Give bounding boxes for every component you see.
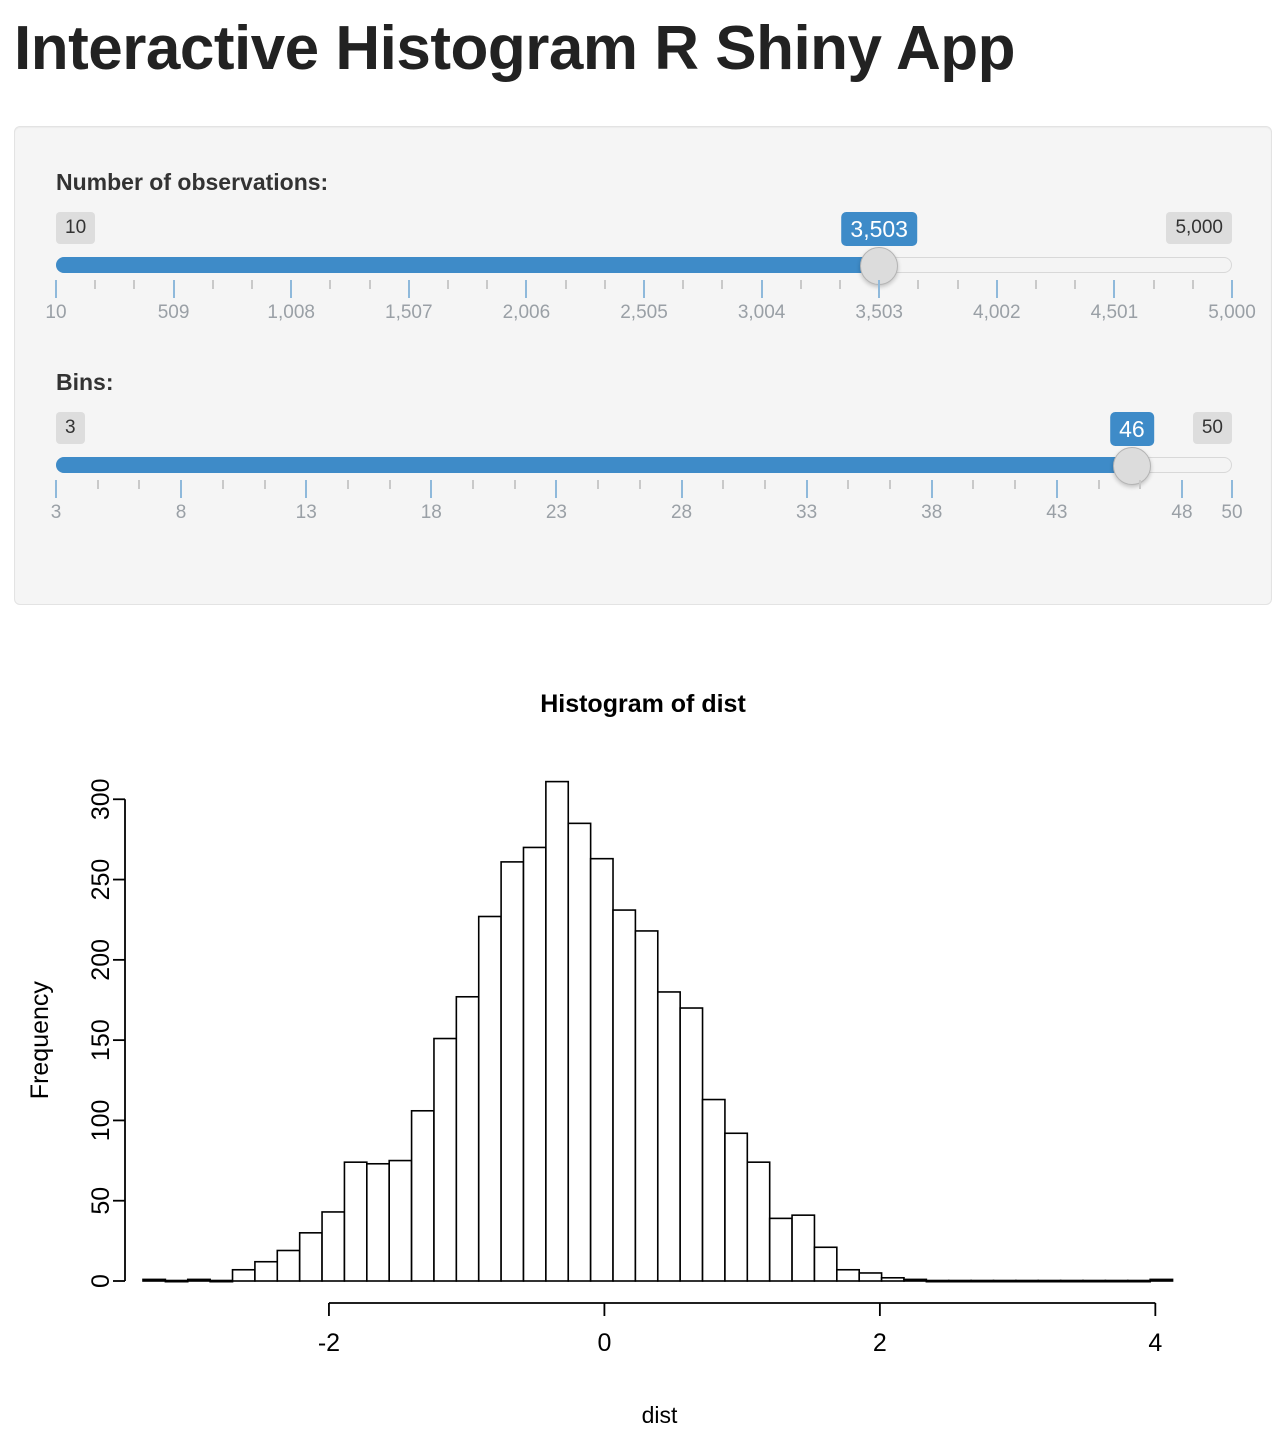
tick-minor: [251, 280, 253, 289]
tick-minor: [1192, 280, 1194, 289]
histogram-bar: [434, 1039, 456, 1281]
histogram-bar: [949, 1281, 971, 1282]
y-tick-label: 300: [87, 778, 115, 820]
tick-minor: [1014, 480, 1016, 489]
histogram-bar: [859, 1273, 881, 1281]
histogram-bar: [412, 1111, 434, 1281]
tick-minor: [839, 280, 841, 289]
x-tick-label: 2: [873, 1329, 887, 1357]
histogram-bar: [635, 931, 657, 1281]
y-tick-label: 50: [87, 1187, 115, 1215]
tick-minor: [604, 280, 606, 289]
tick-minor: [682, 280, 684, 289]
tick-label: 48: [1171, 502, 1192, 524]
histogram-bar: [725, 1133, 747, 1281]
bins-slider-fill: [56, 457, 1132, 473]
tick-major: [290, 280, 292, 298]
tick-minor: [389, 480, 391, 489]
slider-group-observations: Number of observations: 10 5,000 3,503 1…: [56, 171, 1232, 328]
tick-label: 50: [1221, 502, 1242, 524]
tick-label: 23: [546, 502, 567, 524]
histogram-bar: [367, 1164, 389, 1281]
bins-value-bubble: 46: [1110, 412, 1154, 446]
tick-minor: [138, 480, 140, 489]
histogram-bar: [1128, 1281, 1150, 1282]
histogram-bar: [613, 910, 635, 1281]
tick-label: 43: [1046, 502, 1067, 524]
histogram-bar: [322, 1212, 344, 1281]
tick-label: 4,002: [973, 302, 1021, 324]
tick-minor: [1139, 480, 1141, 489]
tick-label: 2,006: [503, 302, 551, 324]
tick-minor: [597, 480, 599, 489]
tick-minor: [472, 480, 474, 489]
tick-label: 1,507: [385, 302, 433, 324]
tick-minor: [722, 480, 724, 489]
tick-major: [55, 480, 57, 498]
x-tick-label: -2: [318, 1329, 340, 1357]
histogram-bar: [658, 992, 680, 1281]
tick-minor: [347, 480, 349, 489]
tick-minor: [800, 280, 802, 289]
tick-major: [1056, 480, 1058, 498]
histogram-bar: [277, 1250, 299, 1281]
tick-label: 1,008: [267, 302, 315, 324]
observations-tick-marks: [56, 280, 1232, 302]
tick-major: [1181, 480, 1183, 498]
observations-slider[interactable]: [56, 252, 1232, 278]
bins-tick-marks: [56, 480, 1232, 502]
slider-group-bins: Bins: 3 50 46 38131823283338434850: [56, 371, 1232, 528]
tick-minor: [917, 280, 919, 289]
histogram-bar: [971, 1281, 993, 1282]
tick-minor: [972, 480, 974, 489]
tick-minor: [1035, 280, 1037, 289]
tick-minor: [329, 280, 331, 289]
histogram-bar: [1016, 1281, 1038, 1282]
tick-label: 8: [176, 502, 187, 524]
observations-max-badge: 5,000: [1166, 212, 1232, 244]
tick-minor: [222, 480, 224, 489]
tick-label: 5,000: [1208, 302, 1256, 324]
histogram-bar: [1105, 1281, 1127, 1282]
histogram-bar: [770, 1218, 792, 1281]
histogram-bar: [904, 1279, 926, 1281]
observations-tick-labels: 105091,0081,5072,0062,5053,0043,5034,002…: [56, 302, 1232, 328]
tick-label: 509: [158, 302, 190, 324]
histogram-bar: [501, 862, 523, 1281]
tick-major: [681, 480, 683, 498]
tick-minor: [565, 280, 567, 289]
bins-min-badge: 3: [56, 412, 85, 444]
observations-badge-row: 10 5,000 3,503: [56, 212, 1232, 246]
histogram-bar: [747, 1162, 769, 1281]
tick-label: 18: [421, 502, 442, 524]
observations-min-badge: 10: [56, 212, 95, 244]
tick-major: [555, 480, 557, 498]
tick-minor: [514, 480, 516, 489]
x-axis-label: dist: [642, 1402, 678, 1428]
histogram-plot: Histogram of dist 050100150200250300Freq…: [0, 640, 1286, 1436]
tick-major: [55, 280, 57, 298]
tick-minor: [764, 480, 766, 489]
tick-minor: [1074, 280, 1076, 289]
tick-major: [761, 280, 763, 298]
tick-major: [430, 480, 432, 498]
tick-major: [173, 280, 175, 298]
histogram-bar: [546, 782, 568, 1281]
bins-badge-row: 3 50 46: [56, 412, 1232, 446]
tick-label: 38: [921, 502, 942, 524]
y-tick-label: 0: [87, 1274, 115, 1288]
tick-label: 33: [796, 502, 817, 524]
histogram-bar: [233, 1270, 255, 1281]
tick-minor: [369, 280, 371, 289]
histogram-canvas: 050100150200250300Frequency-2024dist: [0, 640, 1286, 1436]
tick-label: 3,004: [738, 302, 786, 324]
tick-minor: [264, 480, 266, 489]
tick-minor: [133, 280, 135, 289]
histogram-bar: [792, 1215, 814, 1281]
histogram-bar: [837, 1270, 859, 1281]
histogram-bar: [456, 997, 478, 1281]
tick-major: [408, 280, 410, 298]
tick-major: [643, 280, 645, 298]
app-page: Interactive Histogram R Shiny App Number…: [0, 0, 1286, 1436]
y-axis-label: Frequency: [26, 981, 54, 1100]
tick-major: [806, 480, 808, 498]
histogram-bar: [680, 1008, 702, 1281]
tick-major: [525, 280, 527, 298]
tick-minor: [486, 280, 488, 289]
histogram-bar: [389, 1161, 411, 1281]
tick-major: [878, 280, 880, 298]
tick-label: 10: [45, 302, 66, 324]
histogram-bar: [882, 1278, 904, 1281]
observations-label: Number of observations:: [56, 171, 1232, 194]
tick-major: [305, 480, 307, 498]
histogram-bars: [143, 782, 1173, 1282]
tick-major: [1113, 280, 1115, 298]
histogram-bar: [1150, 1279, 1172, 1281]
histogram-bar: [591, 859, 613, 1281]
x-tick-label: 0: [597, 1329, 611, 1357]
y-tick-label: 100: [87, 1100, 115, 1142]
tick-minor: [94, 280, 96, 289]
bins-label: Bins:: [56, 371, 1232, 394]
histogram-bar: [143, 1279, 165, 1281]
histogram-bar: [255, 1262, 277, 1281]
tick-minor: [721, 280, 723, 289]
histogram-bar: [926, 1281, 948, 1282]
tick-label: 4,501: [1091, 302, 1139, 324]
tick-label: 28: [671, 502, 692, 524]
histogram-bar: [568, 823, 590, 1281]
tick-major: [1231, 280, 1233, 298]
tick-label: 3: [51, 502, 62, 524]
bins-tick-labels: 38131823283338434850: [56, 502, 1232, 528]
tick-minor: [1098, 480, 1100, 489]
y-tick-label: 150: [87, 1019, 115, 1061]
observations-value-bubble: 3,503: [841, 212, 917, 246]
tick-label: 13: [296, 502, 317, 524]
tick-minor: [1153, 280, 1155, 289]
tick-minor: [847, 480, 849, 489]
histogram-bar: [1038, 1281, 1060, 1282]
histogram-bar: [479, 916, 501, 1281]
tick-label: 3,503: [855, 302, 903, 324]
histogram-bar: [210, 1281, 232, 1282]
tick-major: [996, 280, 998, 298]
histogram-bar: [814, 1247, 836, 1281]
x-axis: [329, 1303, 1155, 1316]
histogram-bar: [188, 1279, 210, 1281]
histogram-bar: [703, 1100, 725, 1281]
tick-minor: [447, 280, 449, 289]
tick-minor: [97, 480, 99, 489]
tick-minor: [639, 480, 641, 489]
histogram-bar: [523, 847, 545, 1281]
bins-max-badge: 50: [1193, 412, 1232, 444]
tick-major: [931, 480, 933, 498]
tick-major: [1231, 480, 1233, 498]
controls-panel: Number of observations: 10 5,000 3,503 1…: [14, 126, 1272, 605]
histogram-bar: [1061, 1281, 1083, 1282]
page-title: Interactive Histogram R Shiny App: [14, 18, 1015, 80]
histogram-bar: [994, 1281, 1016, 1282]
tick-label: 2,505: [620, 302, 668, 324]
observations-slider-fill: [56, 257, 879, 273]
y-tick-label: 200: [87, 939, 115, 981]
tick-minor: [889, 480, 891, 489]
tick-minor: [957, 280, 959, 289]
bins-slider[interactable]: [56, 452, 1232, 478]
histogram-bar: [300, 1233, 322, 1281]
histogram-bar: [1083, 1281, 1105, 1282]
histogram-bar: [165, 1281, 187, 1282]
tick-minor: [212, 280, 214, 289]
tick-major: [180, 480, 182, 498]
y-tick-label: 250: [87, 859, 115, 901]
histogram-bar: [344, 1162, 366, 1281]
x-tick-label: 4: [1148, 1329, 1162, 1357]
